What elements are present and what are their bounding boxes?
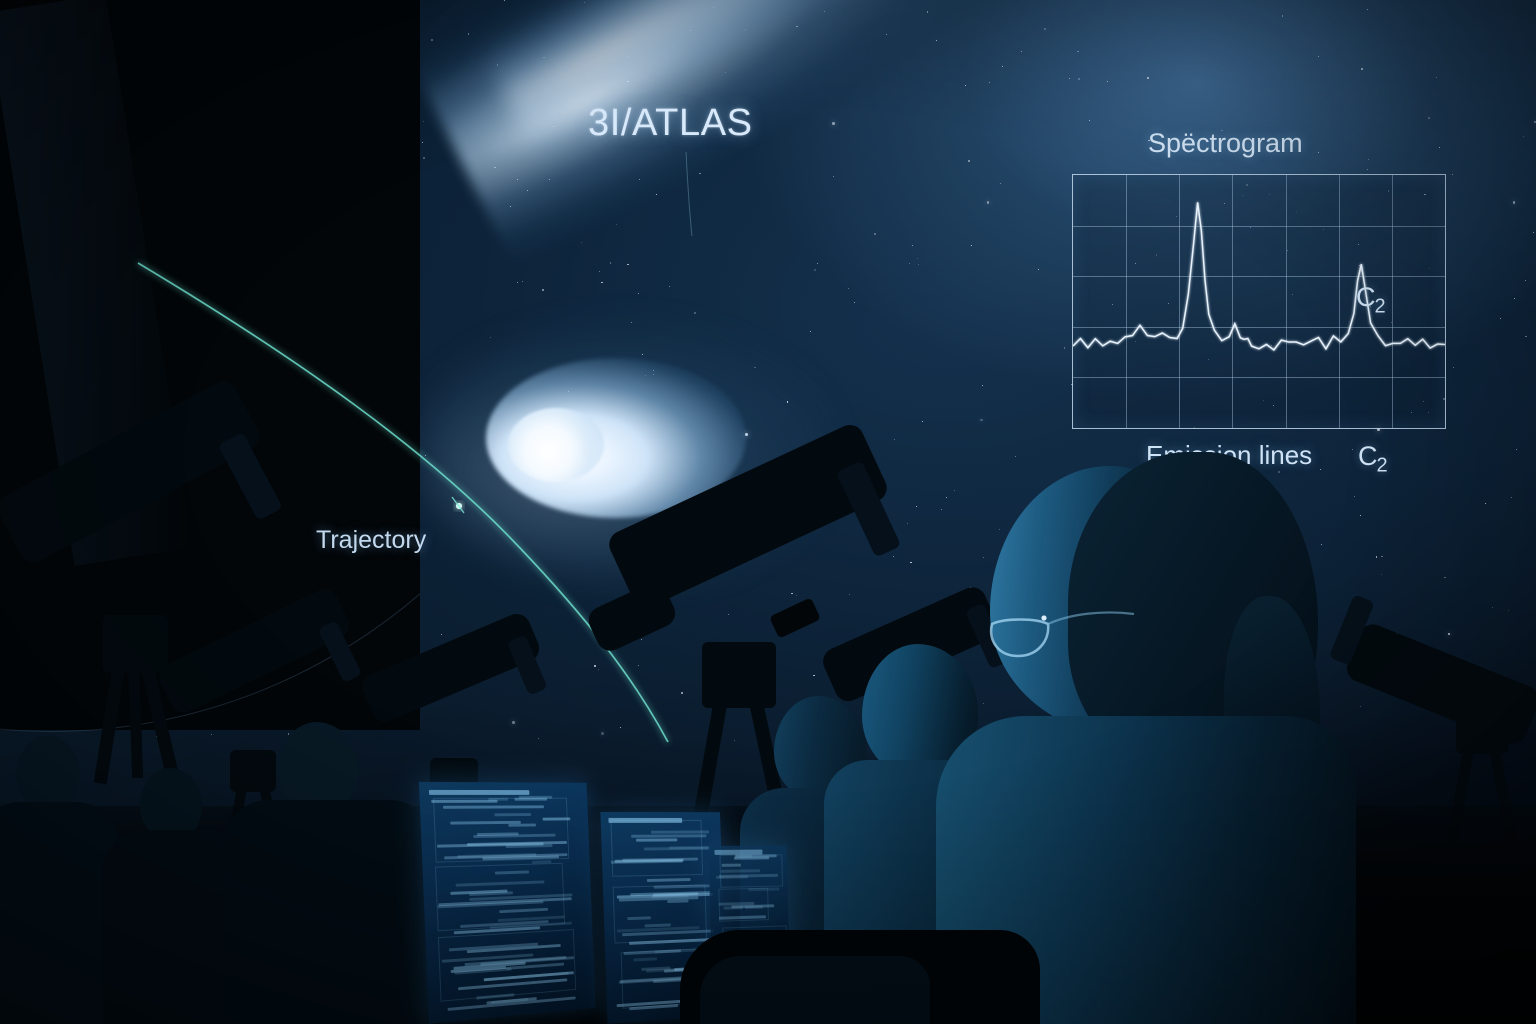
screen-header-line: [429, 790, 530, 795]
screen-text-line: [722, 864, 741, 867]
screen-text-line: [494, 813, 531, 816]
screen-header-line: [714, 850, 762, 855]
monitor-primary-screen[interactable]: [419, 782, 595, 1024]
foreground-silhouettes: [0, 0, 1536, 1024]
glasses-icon: [984, 594, 1164, 674]
screen-text-line: [734, 856, 769, 859]
screen-text-line: [721, 869, 760, 873]
screen-text-line: [519, 796, 552, 799]
screen-text-line: [532, 860, 551, 863]
screen-text-line: [651, 830, 709, 833]
screen-text-line: [488, 798, 508, 801]
observer-far-left: [0, 736, 110, 1024]
screen-header-line: [608, 818, 682, 823]
keyboard-hands: [700, 956, 930, 1024]
screen-text-line: [543, 817, 571, 820]
telescope-far-right: [1340, 562, 1536, 832]
screen-text-line: [748, 888, 779, 892]
observer-left-center: [248, 722, 418, 1024]
screen-text-line: [508, 824, 536, 827]
screen-text-line: [443, 805, 544, 808]
screen-text-line: [631, 834, 706, 837]
monitor-primary[interactable]: [419, 782, 595, 1024]
screen-text-line: [636, 838, 677, 841]
screen-text-line: [724, 906, 743, 910]
screen-text-line: [647, 878, 691, 882]
observatory-scene: 3I/ATLAS Trajectory Spëctrogram C2 C2 Em…: [0, 0, 1536, 1024]
